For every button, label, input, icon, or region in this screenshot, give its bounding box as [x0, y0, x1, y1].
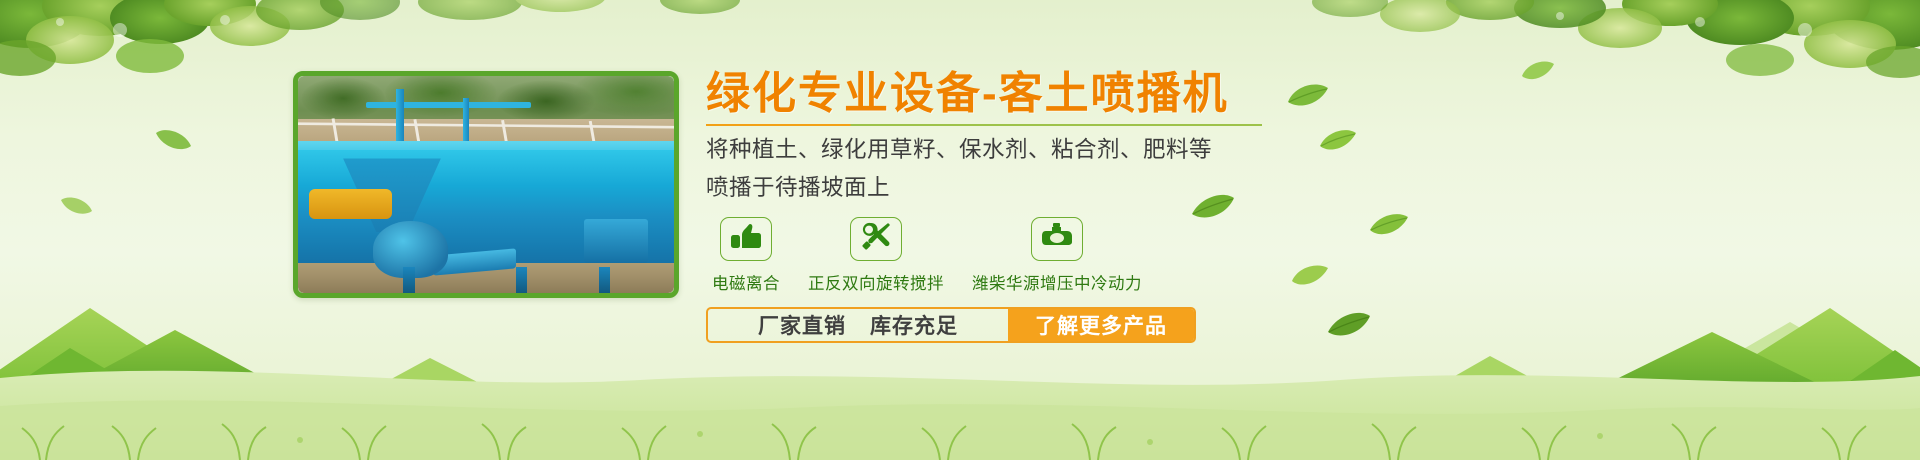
wrench-screwdriver-icon [861, 222, 891, 255]
cta-tag-stock-available: 库存充足 [870, 310, 958, 340]
feature-item-bidirectional-mixing[interactable]: 正反双向旋转搅拌 [808, 217, 944, 294]
engine-icon [1041, 223, 1073, 254]
feature-item-weichai-power[interactable]: 潍柴华源增压中冷动力 [972, 217, 1142, 294]
grass-tufts [0, 390, 1920, 460]
feature-label: 正反双向旋转搅拌 [808, 270, 944, 294]
cta-tags: 厂家直销 库存充足 [708, 309, 1008, 341]
feature-icon-box [1031, 217, 1083, 261]
thumbs-up-icon [731, 223, 761, 254]
feature-label: 电磁离合 [712, 270, 780, 294]
feature-item-electromagnetic-clutch[interactable]: 电磁离合 [712, 217, 780, 294]
promo-banner: 绿化专业设备-客土喷播机 将种植土、绿化用草籽、保水剂、粘合剂、肥料等 喷播于待… [0, 0, 1920, 460]
learn-more-button[interactable]: 了解更多产品 [1008, 309, 1194, 341]
product-photo[interactable] [293, 71, 679, 298]
feature-icon-box [850, 217, 902, 261]
feature-icon-box [720, 217, 772, 261]
banner-title: 绿化专业设备-客土喷播机 [706, 70, 1386, 118]
banner-subtitle-line2: 喷播于待播坡面上 [706, 173, 1386, 203]
product-photo-image [298, 76, 674, 293]
cta-bar: 厂家直销 库存充足 了解更多产品 [706, 307, 1196, 343]
floating-leaf-7 [1520, 60, 1556, 89]
feature-list: 电磁离合 正反双向旋转搅拌 [706, 217, 1386, 294]
floating-leaf-8 [155, 128, 193, 159]
banner-content: 绿化专业设备-客土喷播机 将种植土、绿化用草籽、保水剂、粘合剂、肥料等 喷播于待… [706, 70, 1386, 343]
cta-tag-direct-sales: 厂家直销 [758, 310, 846, 340]
banner-subtitle-line1: 将种植土、绿化用草籽、保水剂、粘合剂、肥料等 [706, 135, 1386, 165]
floating-leaf-9 [60, 196, 94, 223]
title-underline [706, 124, 1262, 126]
feature-label: 潍柴华源增压中冷动力 [972, 270, 1142, 294]
